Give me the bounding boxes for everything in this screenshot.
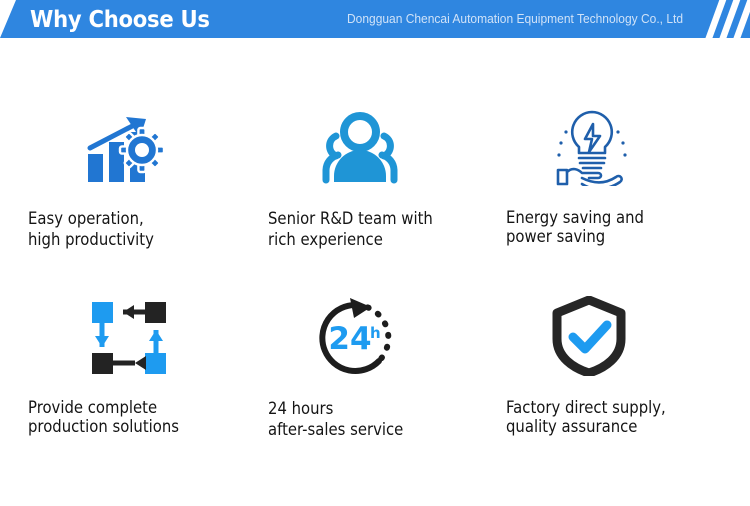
feature-item-rd-team: Senior R&D team with rich experience <box>268 38 518 228</box>
svg-text:24: 24 <box>328 321 371 357</box>
feature-item-factory-supply: Factory direct supply, quality assurance <box>506 228 750 418</box>
features-grid: Easy operation, high productivity Senior… <box>0 38 750 506</box>
feature-item-easy-operation: Easy operation, high productivity <box>28 38 278 228</box>
feature-label: 24 hours after-sales service <box>268 398 493 440</box>
header-bar: Why Choose Us Dongguan Chencai Automatio… <box>0 0 750 38</box>
hand-lightbulb-icon <box>506 100 750 186</box>
shield-check-icon <box>506 290 750 376</box>
feature-label: Factory direct supply, quality assurance <box>506 398 731 436</box>
svg-text:h: h <box>370 324 381 342</box>
feature-item-energy-saving: Energy saving and power saving <box>506 38 750 228</box>
feature-item-production-solutions: Provide complete production solutions <box>28 228 278 418</box>
company-name: Dongguan Chencai Automation Equipment Te… <box>347 0 683 38</box>
feature-item-24h-service: 24 h 24 hours after-sales service <box>268 228 518 418</box>
page-title: Why Choose Us <box>30 2 210 38</box>
feature-label: Provide complete production solutions <box>28 398 253 436</box>
